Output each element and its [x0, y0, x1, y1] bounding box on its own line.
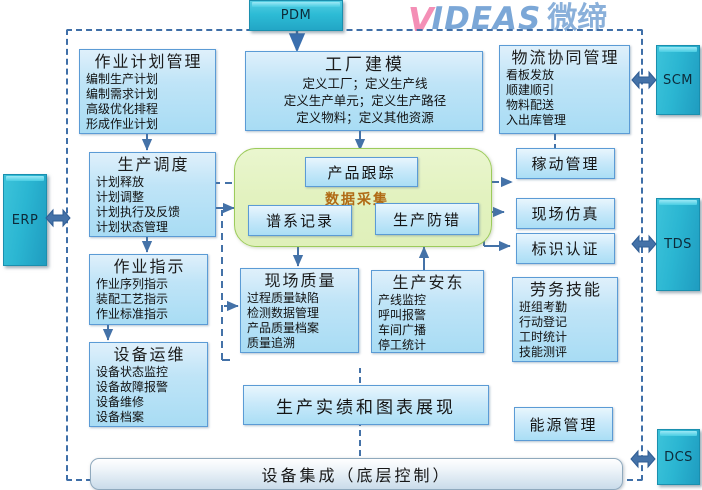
module-logistics[interactable]: 物流协同管理 看板发放 顺建顺引 物料配送 入出库管理	[499, 45, 630, 134]
module-logistics-item: 入出库管理	[506, 113, 625, 128]
module-equipment-item: 设备状态监控	[96, 365, 203, 380]
external-system-pdm[interactable]: PDM	[249, 0, 343, 31]
module-logistics-item: 物料配送	[506, 98, 625, 113]
module-scheduling[interactable]: 生产调度 计划释放 计划调整 计划执行及反馈 计划状态管理	[89, 152, 216, 237]
module-utilization[interactable]: 稼动管理	[516, 148, 615, 179]
module-utilization-label: 稼动管理	[531, 153, 599, 174]
module-job-instruction-item: 作业序列指示	[96, 277, 203, 292]
module-factory-modeling-title: 工厂建模	[252, 55, 478, 75]
module-factory-modeling-item: 定义生产单元；定义生产路径	[252, 92, 478, 109]
module-genealogy-label: 谱系记录	[266, 210, 334, 231]
dcs-link-arrow	[630, 447, 656, 471]
module-scheduling-item: 计划释放	[96, 175, 211, 190]
module-job-instruction-title: 作业指示	[96, 257, 203, 277]
external-system-pdm-label: PDM	[281, 8, 312, 23]
external-system-dcs[interactable]: DCS	[657, 429, 700, 485]
equipment-integration-bar[interactable]: 设备集成（底层控制）	[90, 458, 623, 490]
module-factory-modeling[interactable]: 工厂建模 定义工厂；定义生产线 定义生产单元；定义生产路径 定义物料；定义其他资…	[245, 51, 483, 131]
module-andon-item: 停工统计	[378, 338, 479, 353]
module-job-plan-item: 编制生产计划	[86, 72, 211, 87]
module-andon-item: 产线监控	[378, 293, 479, 308]
module-factory-modeling-item: 定义物料；定义其他资源	[252, 109, 478, 126]
equipment-integration-label: 设备集成（底层控制）	[261, 462, 451, 486]
module-andon[interactable]: 生产安东 产线监控 呼叫报警 车间广播 停工统计	[371, 270, 484, 353]
module-labor-title: 劳务技能	[519, 280, 613, 300]
erp-link-arrow	[45, 206, 71, 230]
module-error-proofing-label: 生产防错	[393, 209, 461, 230]
module-job-instruction-item: 作业标准指示	[96, 307, 203, 322]
module-quality[interactable]: 现场质量 过程质量缺陷 检测数据管理 产品质量档案 质量追溯	[240, 268, 359, 353]
external-system-tds[interactable]: TDS	[656, 198, 700, 291]
module-job-plan-item: 高级优化排程	[86, 102, 211, 117]
module-labor-item: 行动登记	[519, 315, 613, 330]
module-job-plan-item: 编制需求计划	[86, 87, 211, 102]
module-andon-item: 呼叫报警	[378, 308, 479, 323]
module-equipment-item: 设备维修	[96, 395, 203, 410]
module-job-instruction-item: 装配工艺指示	[96, 292, 203, 307]
module-energy-label: 能源管理	[529, 414, 597, 435]
external-system-erp-label: ERP	[12, 213, 39, 228]
module-quality-title: 现场质量	[247, 271, 354, 291]
module-simulation[interactable]: 现场仿真	[516, 198, 615, 229]
module-equipment[interactable]: 设备运维 设备状态监控 设备故障报警 设备维修 设备档案	[89, 342, 208, 427]
module-labor-item: 班组考勤	[519, 300, 613, 315]
module-energy[interactable]: 能源管理	[514, 407, 613, 441]
module-simulation-label: 现场仿真	[531, 203, 599, 224]
module-labor-item: 工时统计	[519, 330, 613, 345]
module-performance-label: 生产实绩和图表展现	[276, 393, 456, 418]
module-andon-title: 生产安东	[378, 273, 479, 293]
module-logistics-title: 物流协同管理	[506, 48, 625, 68]
module-identification-label: 标识认证	[531, 238, 599, 259]
module-product-tracking-label: 产品跟踪	[327, 162, 395, 183]
module-quality-item: 质量追溯	[247, 336, 354, 351]
module-equipment-title: 设备运维	[96, 345, 203, 365]
module-quality-item: 检测数据管理	[247, 306, 354, 321]
module-job-plan-title: 作业计划管理	[86, 52, 211, 72]
module-scheduling-item: 计划执行及反馈	[96, 205, 211, 220]
module-equipment-item: 设备故障报警	[96, 380, 203, 395]
module-scheduling-title: 生产调度	[96, 155, 211, 175]
module-scheduling-item: 计划调整	[96, 190, 211, 205]
module-job-instruction[interactable]: 作业指示 作业序列指示 装配工艺指示 作业标准指示	[89, 254, 208, 325]
scm-link-arrow	[631, 68, 657, 92]
module-performance[interactable]: 生产实绩和图表展现	[243, 385, 489, 425]
external-system-dcs-label: DCS	[664, 450, 693, 465]
module-factory-modeling-item: 定义工厂；定义生产线	[252, 75, 478, 92]
module-scheduling-item: 计划状态管理	[96, 220, 211, 235]
module-logistics-item: 看板发放	[506, 68, 625, 83]
module-product-tracking[interactable]: 产品跟踪	[305, 157, 418, 187]
module-identification[interactable]: 标识认证	[516, 233, 615, 264]
module-error-proofing[interactable]: 生产防错	[375, 203, 479, 235]
module-quality-item: 产品质量档案	[247, 321, 354, 336]
external-system-scm[interactable]: SCM	[656, 45, 700, 115]
module-quality-item: 过程质量缺陷	[247, 291, 354, 306]
module-labor-item: 技能测评	[519, 345, 613, 360]
module-labor[interactable]: 劳务技能 班组考勤 行动登记 工时统计 技能测评	[512, 277, 618, 362]
tds-link-arrow	[631, 232, 657, 256]
module-job-plan-item: 形成作业计划	[86, 117, 211, 132]
module-job-plan[interactable]: 作业计划管理 编制生产计划 编制需求计划 高级优化排程 形成作业计划	[79, 49, 216, 134]
module-genealogy[interactable]: 谱系记录	[248, 205, 352, 236]
external-system-erp[interactable]: ERP	[3, 174, 47, 266]
external-system-tds-label: TDS	[664, 237, 692, 252]
module-equipment-item: 设备档案	[96, 410, 203, 425]
external-system-scm-label: SCM	[663, 73, 693, 88]
module-logistics-item: 顺建顺引	[506, 83, 625, 98]
module-andon-item: 车间广播	[378, 323, 479, 338]
